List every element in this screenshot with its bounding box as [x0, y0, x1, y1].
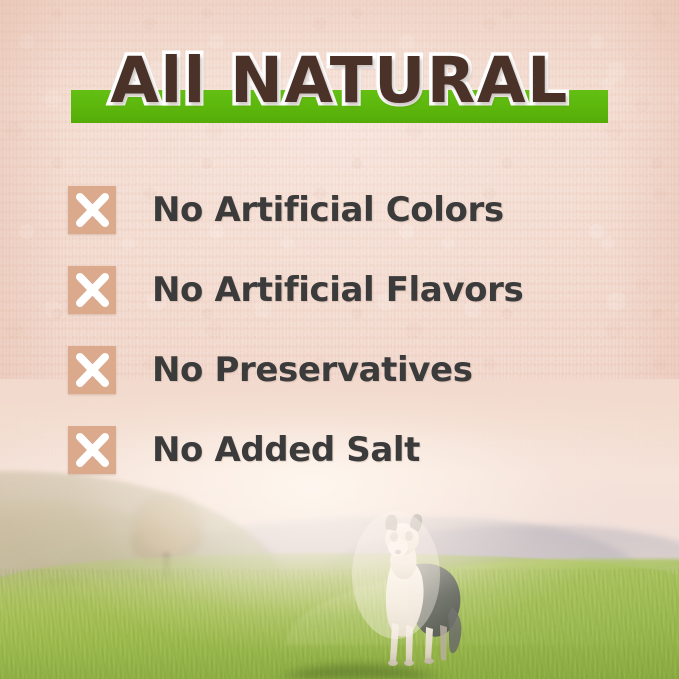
x-mark-icon	[68, 266, 116, 314]
list-item: No Artificial Flavors	[68, 250, 628, 330]
list-item: No Artificial Colors	[68, 170, 628, 250]
page-title: All NATURAL	[0, 47, 679, 115]
list-item: No Preservatives	[68, 330, 628, 410]
claim-label: No Artificial Colors	[152, 190, 504, 230]
dog-photo-subject	[352, 511, 474, 671]
claim-label: No Added Salt	[152, 430, 420, 470]
claim-label: No Artificial Flavors	[152, 270, 523, 310]
x-mark-icon	[68, 346, 116, 394]
all-natural-product-poster: All NATURAL No Artificial Colors No Arti…	[0, 0, 679, 679]
list-item: No Added Salt	[68, 410, 628, 490]
claims-list: No Artificial Colors No Artificial Flavo…	[68, 170, 628, 490]
claim-label: No Preservatives	[152, 350, 473, 390]
x-mark-icon	[68, 186, 116, 234]
x-mark-icon	[68, 426, 116, 474]
